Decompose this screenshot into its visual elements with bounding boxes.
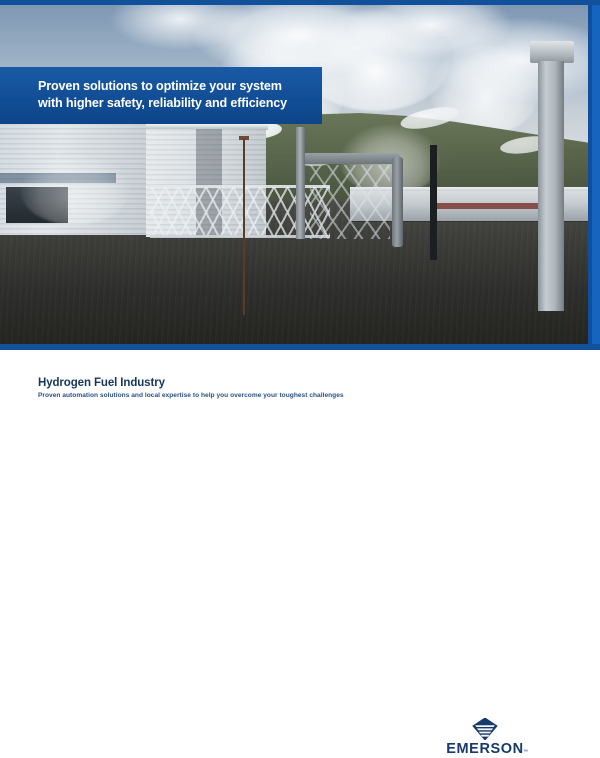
- footer-text-block: Hydrogen Fuel Industry Proven automation…: [38, 376, 344, 401]
- emerson-logo: EMERSON ™: [440, 718, 530, 758]
- overhead-pipe-run: [296, 153, 400, 164]
- headline-banner: Proven solutions to optimize your system…: [0, 67, 322, 124]
- foreground-piping: [0, 211, 600, 344]
- exhaust-stack-cap: [530, 41, 574, 63]
- emerson-wordmark: EMERSON: [440, 741, 530, 757]
- footer-title: Hydrogen Fuel Industry: [38, 376, 344, 390]
- hero-photo-geothermal-plant: [0, 5, 600, 344]
- headline-line-1: Proven solutions to optimize your system: [38, 78, 306, 95]
- shed-red-stripe: [430, 203, 540, 209]
- footer-subtitle: Proven automation solutions and local ex…: [38, 391, 344, 401]
- footer: Hydrogen Fuel Industry Proven automation…: [0, 350, 600, 452]
- brochure-page: Proven solutions to optimize your system…: [0, 0, 600, 452]
- headline-line-2: with higher safety, reliability and effi…: [38, 95, 306, 112]
- steam-plume: [300, 11, 450, 111]
- photo-frame-right: [592, 5, 600, 344]
- emerson-diamond-icon: [472, 718, 498, 740]
- trademark-symbol: ™: [523, 750, 528, 755]
- hero-image: Proven solutions to optimize your system…: [0, 5, 600, 344]
